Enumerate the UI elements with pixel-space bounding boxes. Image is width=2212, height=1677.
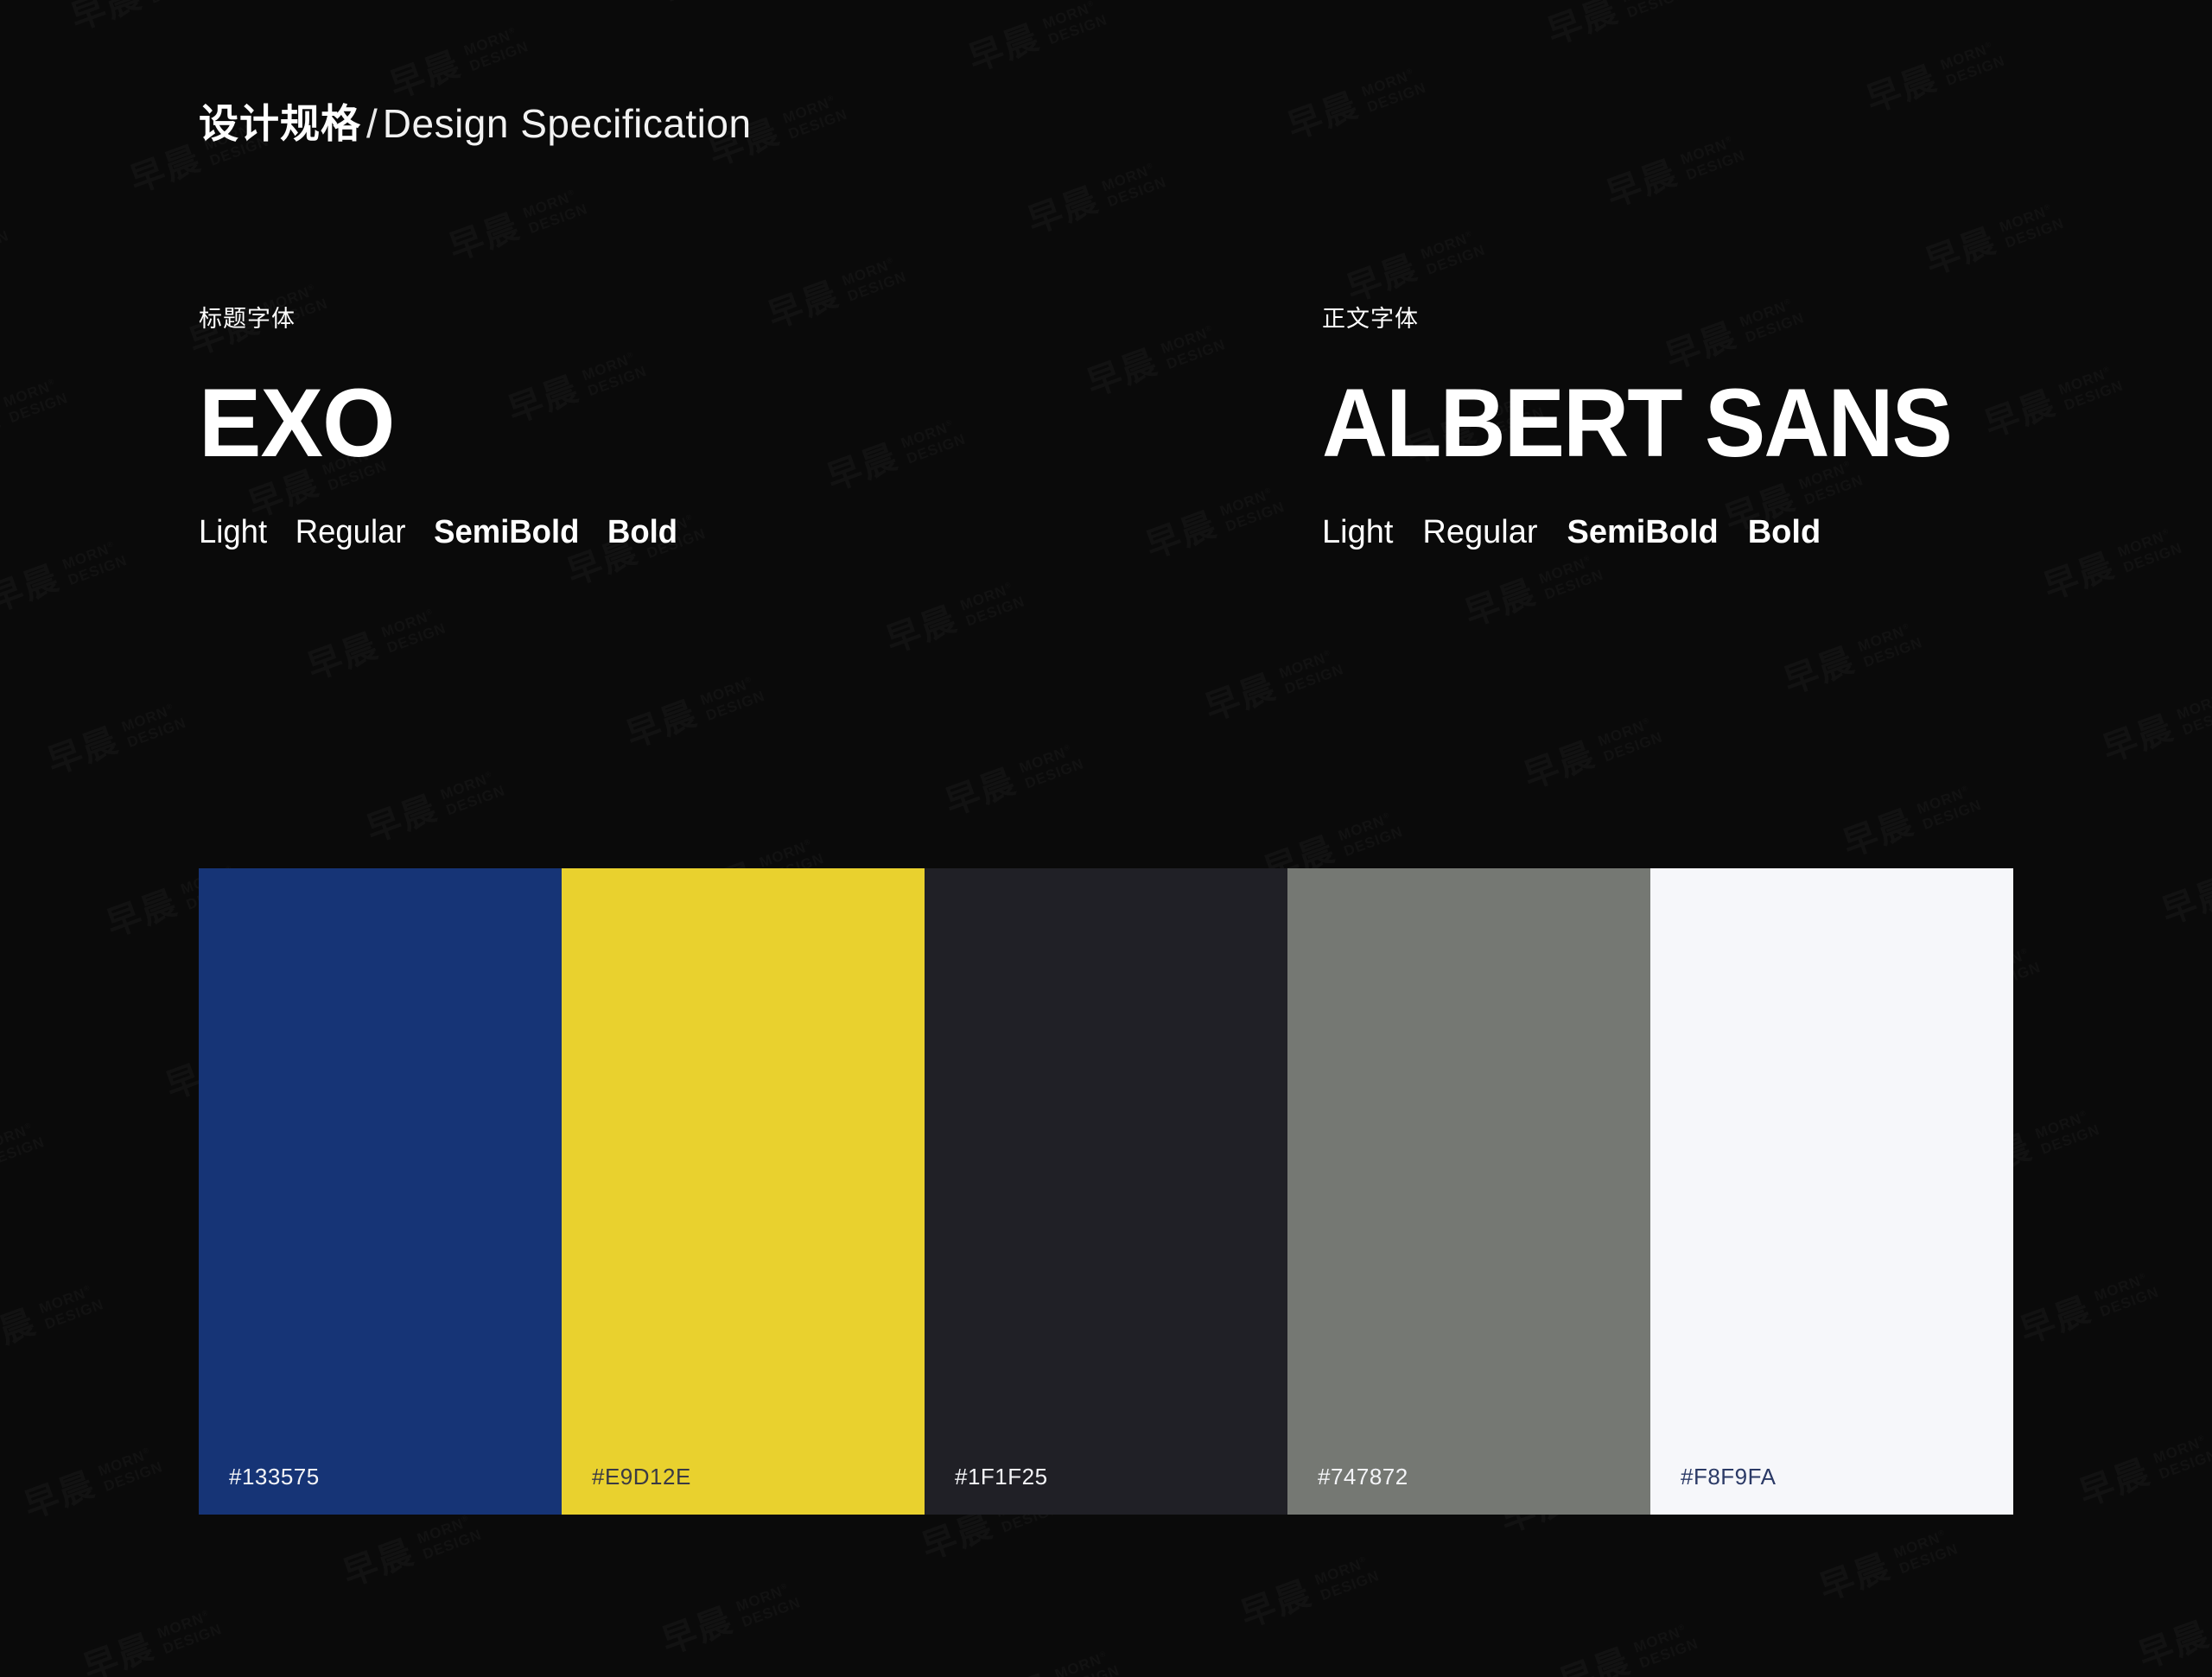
- heading-weight-light: Light: [199, 513, 267, 553]
- body-font-specimen: ALBERT SANS: [1322, 375, 1972, 472]
- body-font-column: 正文字体 ALBERT SANS Light Regular SemiBold …: [1322, 300, 2013, 553]
- color-swatch[interactable]: #E9D12E: [562, 868, 925, 1515]
- body-weight-light: Light: [1322, 513, 1393, 553]
- color-swatch[interactable]: #747872: [1287, 868, 1650, 1515]
- design-specification-page: 设计规格/Design Specification 标题字体 EXO Light…: [0, 0, 2212, 1677]
- heading-font-label: 标题字体: [199, 300, 1322, 333]
- color-swatch[interactable]: #F8F9FA: [1650, 868, 2013, 1515]
- body-font-label: 正文字体: [1322, 300, 2013, 333]
- color-swatch-hex-label: #F8F9FA: [1681, 1464, 1776, 1490]
- heading-font-specimen: EXO: [199, 375, 1288, 472]
- page-title-separator: /: [361, 101, 383, 146]
- body-weight-regular: Regular: [1422, 513, 1537, 553]
- color-palette: #133575#E9D12E#1F1F25#747872#F8F9FA: [199, 868, 2013, 1515]
- color-swatch-hex-label: #747872: [1318, 1464, 1408, 1490]
- color-swatch-hex-label: #1F1F25: [955, 1464, 1048, 1490]
- page-title-english: Design Specification: [383, 101, 752, 146]
- body-font-weights: Light Regular SemiBold Bold: [1322, 513, 2013, 553]
- color-swatch-hex-label: #E9D12E: [592, 1464, 691, 1490]
- color-swatch-hex-label: #133575: [229, 1464, 320, 1490]
- body-weight-bold: Bold: [1748, 513, 1821, 553]
- heading-weight-bold: Bold: [607, 513, 677, 553]
- page-title-chinese: 设计规格: [199, 101, 361, 146]
- typography-section: 标题字体 EXO Light Regular SemiBold Bold 正文字…: [199, 300, 2013, 553]
- heading-font-weights: Light Regular SemiBold Bold: [199, 513, 1277, 553]
- page-title: 设计规格/Design Specification: [199, 102, 2013, 146]
- color-swatch[interactable]: #133575: [199, 868, 562, 1515]
- heading-weight-regular: Regular: [296, 513, 406, 553]
- body-weight-semibold: SemiBold: [1567, 513, 1718, 553]
- color-swatch[interactable]: #1F1F25: [925, 868, 1287, 1515]
- heading-weight-semibold: SemiBold: [434, 513, 579, 553]
- title-block: 设计规格/Design Specification: [199, 0, 2013, 146]
- heading-font-column: 标题字体 EXO Light Regular SemiBold Bold: [199, 300, 1322, 553]
